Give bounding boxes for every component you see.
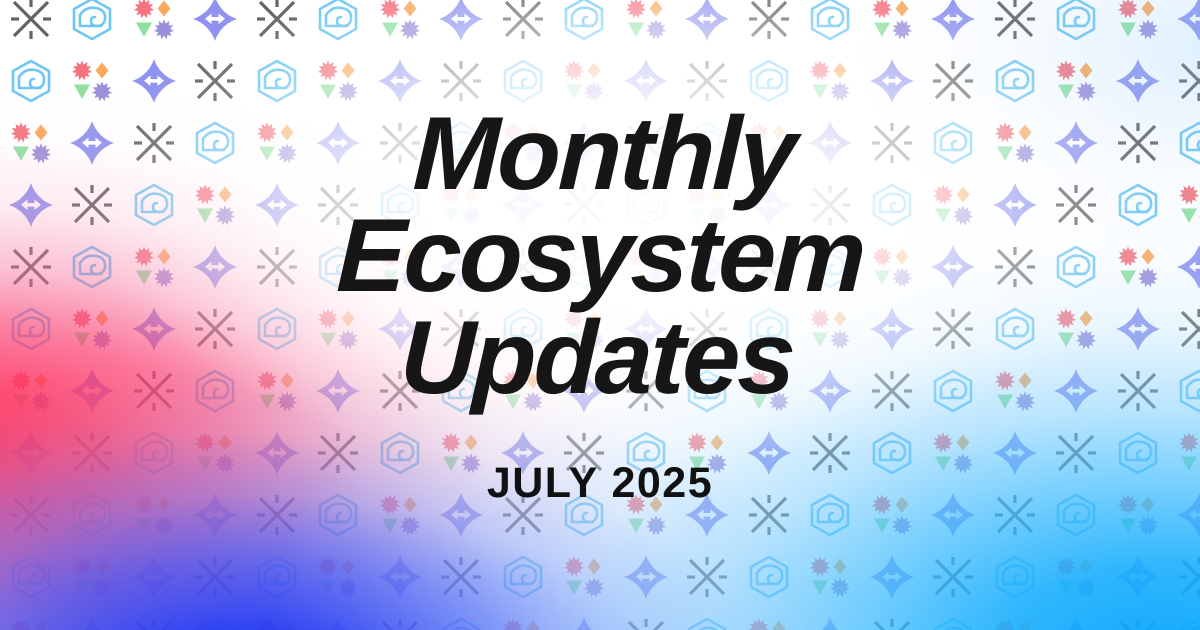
ecosystem-updates-banner: Monthly Ecosystem Updates JULY 2025 (0, 0, 1200, 630)
title-line-3: Updates (331, 308, 861, 410)
title-line-1: Monthly (338, 104, 868, 206)
banner-content: Monthly Ecosystem Updates JULY 2025 (0, 0, 1200, 630)
title-line-2: Ecosystem (335, 206, 865, 308)
page-title: Monthly Ecosystem Updates (331, 104, 868, 410)
page-subtitle: JULY 2025 (487, 410, 713, 505)
